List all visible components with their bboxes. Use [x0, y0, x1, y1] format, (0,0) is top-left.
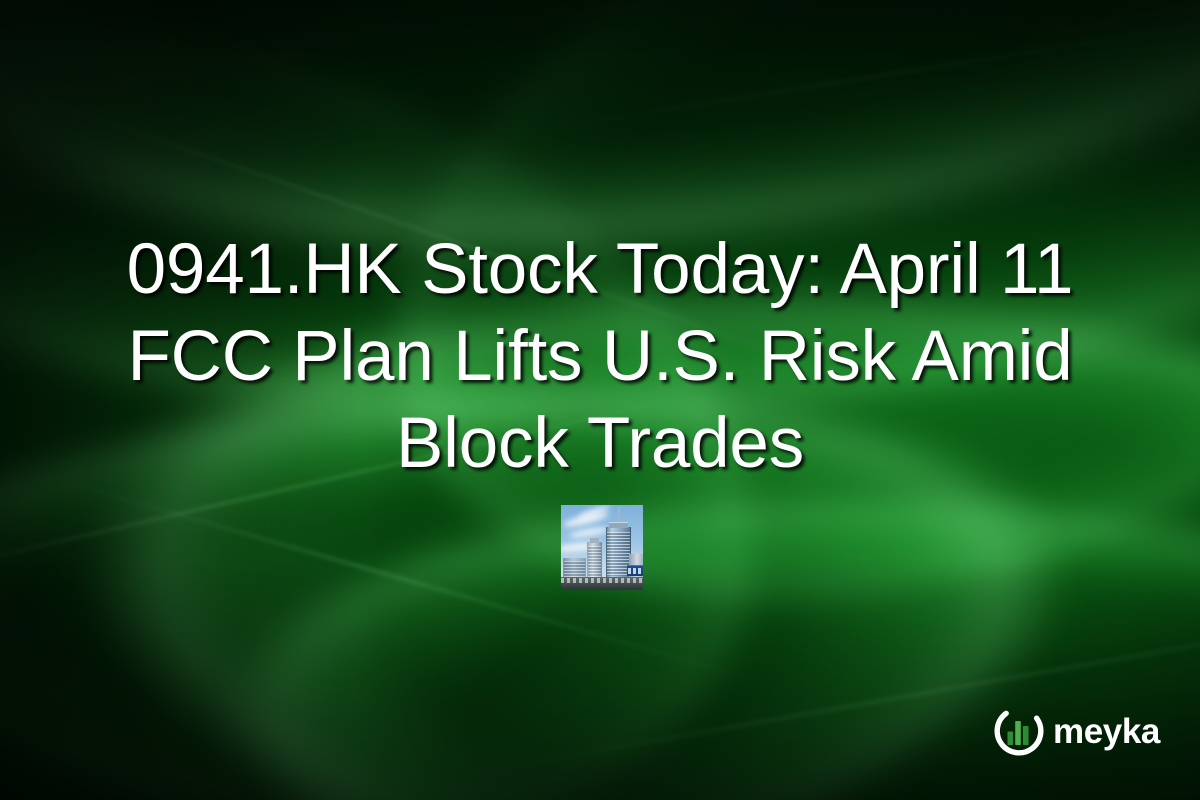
- social-share-card: 0941.HK Stock Today: April 11 FCC Plan L…: [0, 0, 1200, 800]
- article-thumbnail-image: [561, 505, 643, 590]
- antenna-mast: [618, 507, 620, 523]
- blue-signboard: [627, 565, 643, 576]
- page-title: 0941.HK Stock Today: April 11 FCC Plan L…: [50, 226, 1150, 487]
- street-level: [561, 577, 643, 590]
- meyka-logo-icon: [994, 706, 1044, 756]
- tower-cap: [590, 538, 599, 543]
- storefront-row: [561, 578, 643, 583]
- signboard-lettering: [628, 568, 643, 574]
- brand-wordmark: meyka: [1053, 714, 1160, 749]
- brand-logo: meyka: [994, 706, 1160, 756]
- tower-cap: [609, 522, 628, 528]
